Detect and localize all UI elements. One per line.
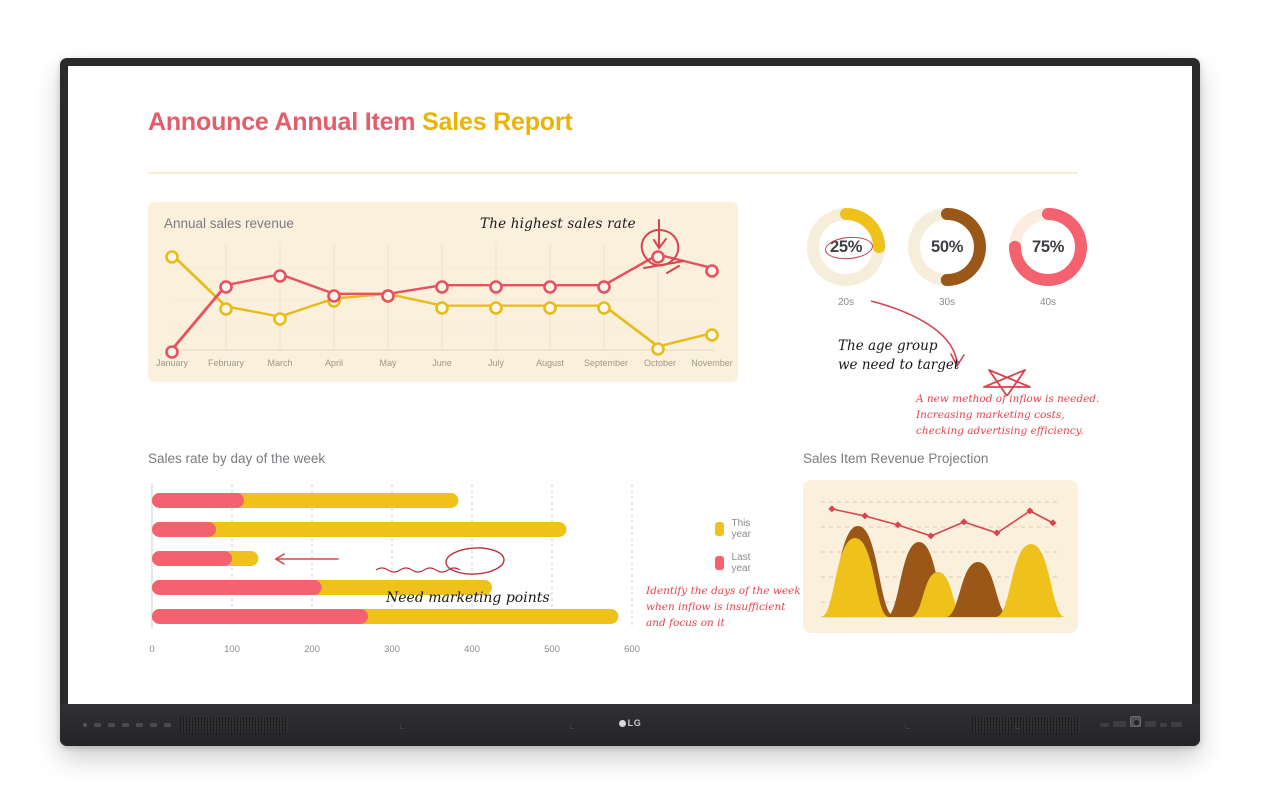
donut-ring-40s: 75% <box>1005 204 1091 290</box>
bar-chart-title: Sales rate by day of the week <box>148 451 325 466</box>
bar-note-line1: Identify the days of the week <box>646 584 801 600</box>
legend-label-last-year: Last year <box>732 552 757 574</box>
legend-item-last-year: Last year <box>715 552 756 574</box>
month-label: February <box>208 358 244 368</box>
bar-x-tick: 100 <box>224 644 240 655</box>
month-label: March <box>267 358 292 368</box>
month-label: May <box>379 358 396 368</box>
donut-40s: 75% 40s <box>1005 204 1091 308</box>
page-title: Announce Annual Item Sales Report <box>148 108 573 137</box>
projection-svg <box>803 480 1078 633</box>
month-label: June <box>432 358 452 368</box>
page-title-part2: Sales Report <box>422 108 572 136</box>
bezel-control-cluster[interactable] <box>1100 716 1182 727</box>
red-note-line2: Increasing marketing costs, <box>916 408 1099 424</box>
donut-value-40s: 75% <box>1005 204 1091 290</box>
red-note-line1: A new method of inflow is needed. <box>916 392 1099 408</box>
lg-brand-logo: LG <box>60 718 1200 728</box>
need-marketing-ellipse <box>445 547 504 576</box>
lg-display-monitor: Announce Annual Item Sales Report Annual… <box>60 58 1200 746</box>
donut-value-30s: 50% <box>904 204 990 290</box>
bezel-ctl-button-1[interactable] <box>1100 723 1109 727</box>
line-chart-svg <box>148 202 738 382</box>
highest-point-circle-annotation <box>642 220 684 273</box>
donut-20s: 25% 20s <box>803 204 889 308</box>
projection-chart-title: Sales Item Revenue Projection <box>803 451 988 466</box>
bar-note-line2: when inflow is insufficient <box>646 600 801 616</box>
need-marketing-arrow <box>276 554 338 564</box>
bar-last-year <box>152 493 244 508</box>
legend-swatch-this-year <box>715 522 724 536</box>
bar-x-tick: 200 <box>304 644 320 655</box>
age-group-target-annotation: The age group we need to target <box>838 337 959 375</box>
page-title-part1: Announce Annual Item <box>148 108 415 136</box>
donut-value-20s: 25% <box>803 204 889 290</box>
title-divider <box>148 172 1078 174</box>
bar-last-year <box>152 522 216 537</box>
month-label: April <box>325 358 343 368</box>
bar-last-year <box>152 580 322 595</box>
legend-swatch-last-year <box>715 556 724 570</box>
monitor-bottom-bezel: LG <box>60 704 1200 746</box>
donut-caption-30s: 30s <box>904 297 990 308</box>
month-label: August <box>536 358 564 368</box>
annual-sales-revenue-chart: Annual sales revenue <box>148 202 738 382</box>
age-group-donut-charts: 25% 20s 50% 30s <box>803 204 1103 329</box>
bar-chart-legend: This year Last year <box>715 518 756 586</box>
red-note-line3: checking advertising efficiency. <box>916 424 1099 440</box>
month-label: November <box>691 358 733 368</box>
month-label: January <box>156 358 188 368</box>
identify-days-annotation: Identify the days of the week when inflo… <box>646 584 801 631</box>
monitor-screen: Announce Annual Item Sales Report Annual… <box>68 66 1192 704</box>
bar-last-year <box>152 551 232 566</box>
legend-label-this-year: This year <box>732 518 757 540</box>
bar-x-tick: 0 <box>149 644 154 655</box>
donut-caption-20s: 20s <box>803 297 889 308</box>
need-marketing-underline <box>376 568 460 572</box>
bar-x-tick: 400 <box>464 644 480 655</box>
screenshot-root: Announce Annual Item Sales Report Annual… <box>0 0 1261 794</box>
sales-item-revenue-projection-chart <box>803 480 1078 633</box>
month-label: July <box>488 358 504 368</box>
donut-30s: 50% 30s <box>904 204 990 308</box>
legend-item-this-year: This year <box>715 518 756 540</box>
bar-x-tick: 500 <box>544 644 560 655</box>
donut-ring-20s: 25% <box>803 204 889 290</box>
line-chart-hgridlines <box>172 268 714 328</box>
donut-ring-30s: 50% <box>904 204 990 290</box>
sales-rate-by-day-chart: 0 100 200 300 400 500 600 This year <box>148 482 738 668</box>
camera-icon <box>1130 716 1141 727</box>
bezel-ctl-button-2[interactable] <box>1113 721 1126 727</box>
lg-logo-mark <box>619 720 626 727</box>
month-label: October <box>644 358 676 368</box>
month-label: September <box>584 358 628 368</box>
bezel-ctl-button-4[interactable] <box>1160 723 1167 727</box>
lg-logo-text: LG <box>628 718 642 728</box>
bar-last-year <box>152 609 368 624</box>
projection-bell-curves <box>821 526 1065 617</box>
bezel-ctl-button-3[interactable] <box>1145 721 1156 727</box>
need-marketing-points-annotation: Need marketing points <box>386 590 550 606</box>
bar-note-line3: and focus on it <box>646 616 801 632</box>
age-note-line2: we need to target <box>838 356 959 375</box>
bar-x-tick: 300 <box>384 644 400 655</box>
bezel-ctl-button-5[interactable] <box>1171 722 1182 727</box>
presentation-slide: Announce Annual Item Sales Report Annual… <box>68 66 1192 704</box>
donut-caption-40s: 40s <box>1005 297 1091 308</box>
marketing-cost-annotation: A new method of inflow is needed. Increa… <box>916 392 1099 439</box>
line-chart-gridlines <box>226 244 658 350</box>
highest-sales-rate-annotation: The highest sales rate <box>480 216 636 232</box>
age-note-line1: The age group <box>838 337 959 356</box>
bar-x-tick: 600 <box>624 644 640 655</box>
